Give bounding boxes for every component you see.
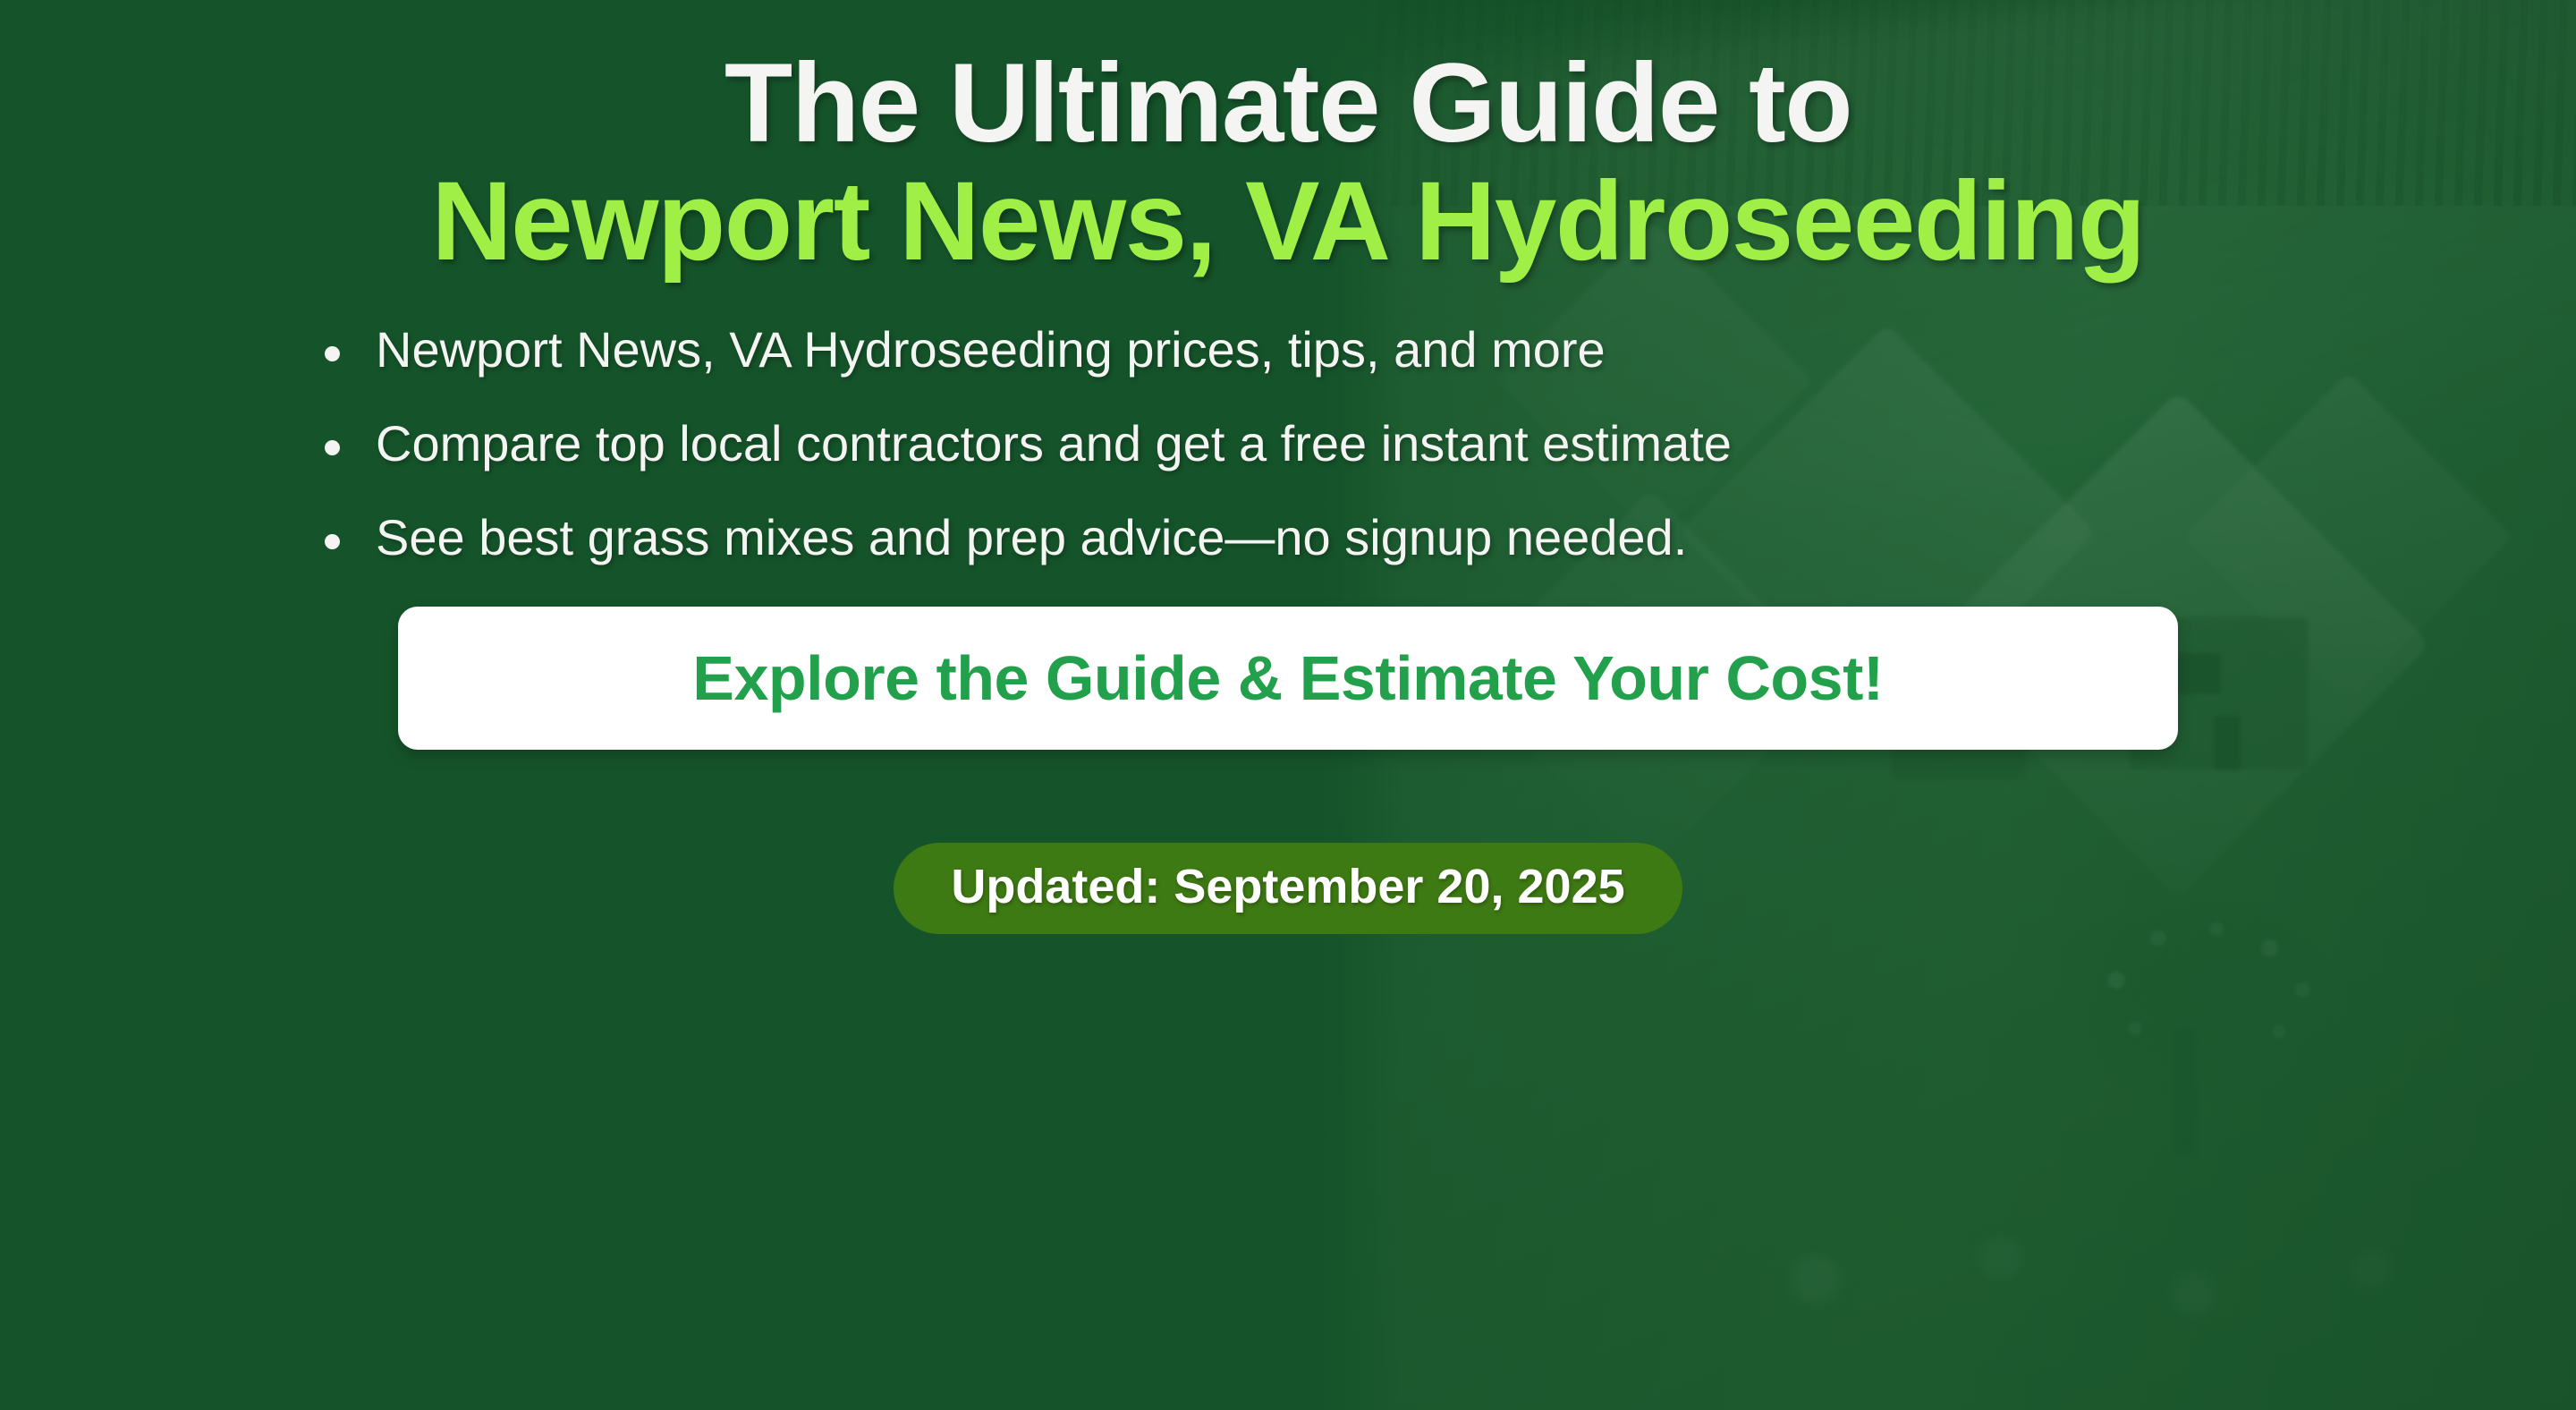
cta-container: Explore the Guide & Estimate Your Cost! — [0, 607, 2576, 750]
updated-date-badge: Updated: September 20, 2025 — [894, 843, 1682, 934]
list-item: Newport News, VA Hydroseeding prices, ti… — [309, 325, 2321, 375]
page-title: The Ultimate Guide to Newport News, VA H… — [0, 0, 2576, 278]
benefits-list: Newport News, VA Hydroseeding prices, ti… — [309, 325, 2321, 563]
explore-guide-button[interactable]: Explore the Guide & Estimate Your Cost! — [398, 607, 2178, 750]
headline-line-2-accent: Newport News, VA Hydroseeding — [0, 165, 2576, 279]
list-item: Compare top local contractors and get a … — [309, 419, 2321, 469]
headline-line-1: The Ultimate Guide to — [724, 41, 1851, 166]
banner-content: The Ultimate Guide to Newport News, VA H… — [0, 0, 2576, 1410]
badge-container: Updated: September 20, 2025 — [0, 843, 2576, 934]
hero-banner: The Ultimate Guide to Newport News, VA H… — [0, 0, 2576, 1410]
list-item: See best grass mixes and prep advice—no … — [309, 513, 2321, 563]
